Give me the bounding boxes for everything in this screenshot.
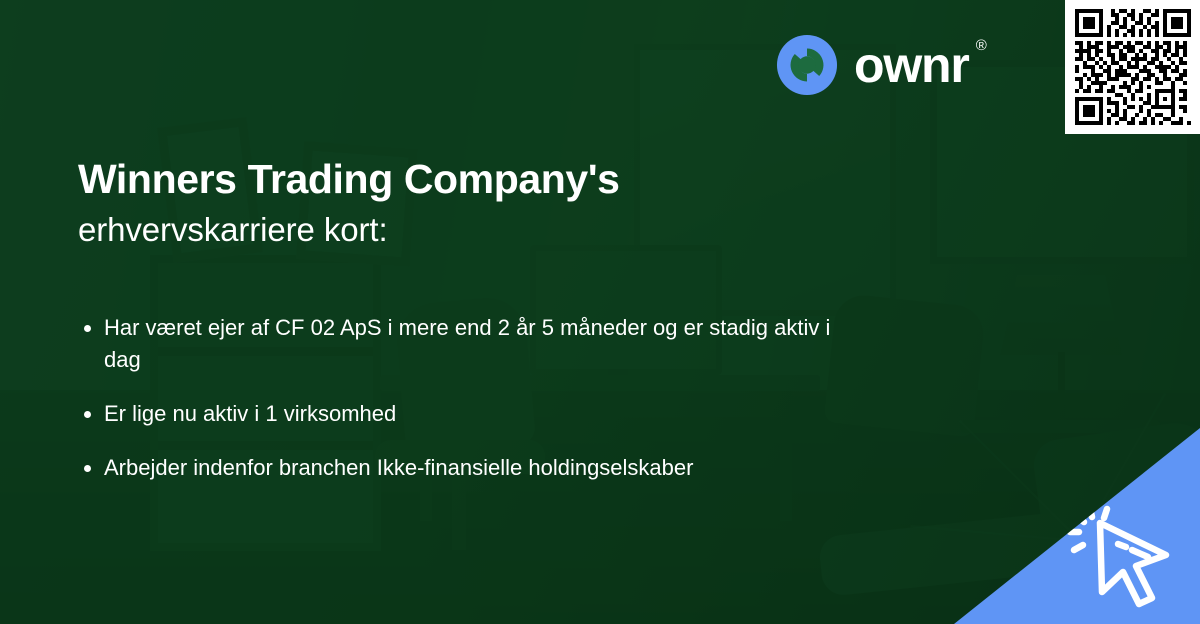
qr-code-panel[interactable] bbox=[1065, 0, 1200, 134]
ownr-circle-logo-icon bbox=[776, 34, 838, 96]
qr-code-icon[interactable] bbox=[1075, 9, 1191, 125]
social-share-card: ownr ® bbox=[0, 0, 1200, 624]
page-title-line-1: Winners Trading Company's bbox=[78, 155, 620, 203]
career-facts-list: Har været ejer af CF 02 ApS i mere end 2… bbox=[80, 312, 960, 506]
list-item: Arbejder indenfor branchen Ikke-finansie… bbox=[80, 452, 864, 484]
list-item: Er lige nu aktiv i 1 virksomhed bbox=[80, 398, 864, 430]
registered-trademark-symbol: ® bbox=[976, 38, 986, 53]
page-title: Winners Trading Company's erhvervskarrie… bbox=[78, 155, 620, 251]
ownr-wordmark-text: ownr bbox=[854, 37, 969, 93]
list-item: Har været ejer af CF 02 ApS i mere end 2… bbox=[80, 312, 864, 376]
ownr-logo: ownr ® bbox=[776, 34, 969, 96]
page-title-line-2: erhvervskarriere kort: bbox=[78, 209, 620, 250]
ownr-wordmark: ownr ® bbox=[854, 40, 969, 90]
